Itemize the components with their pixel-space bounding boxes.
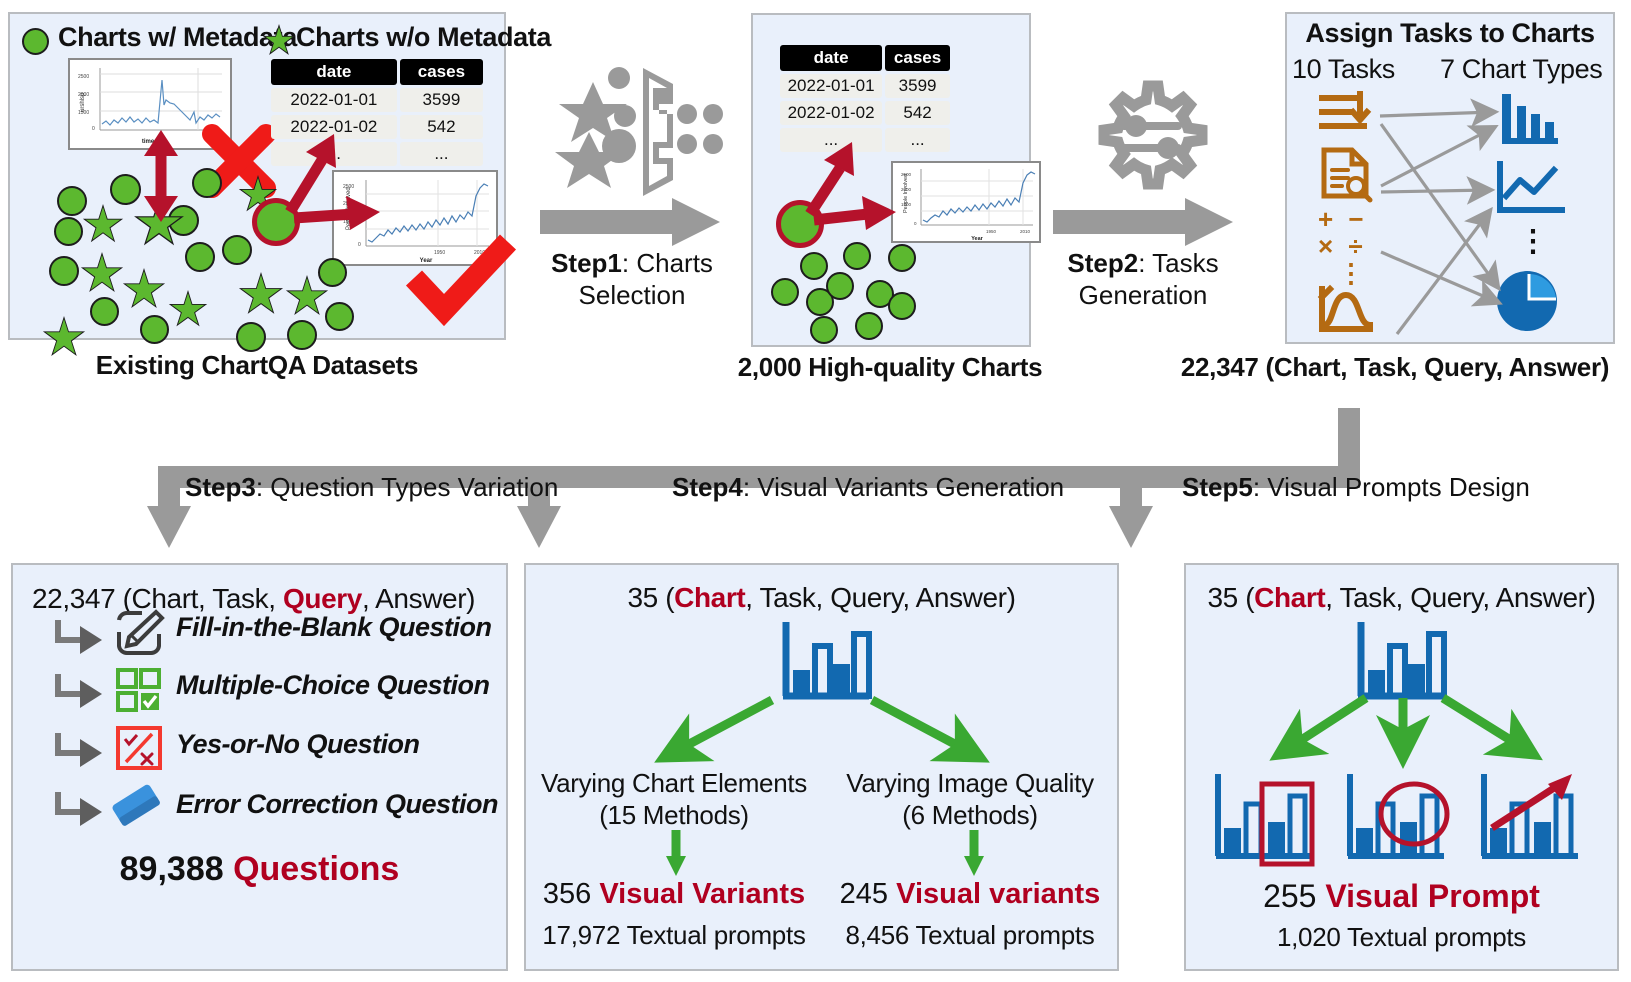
step4-branch2-title: Varying Image Quality	[820, 768, 1120, 799]
step4-branch1-down-arrow	[664, 830, 688, 876]
question-type-item-yes-or-no: Yes-or-No Question	[176, 729, 420, 760]
step4-rest: : Visual Variants Generation	[743, 472, 1064, 502]
chart-highlight: Chart	[674, 582, 745, 613]
step2-rest: : Tasks	[1138, 248, 1218, 278]
step1-arrow-right	[540, 198, 720, 246]
table-row: 2022-01-01 3599	[271, 88, 483, 112]
scatter-dot	[222, 235, 252, 265]
step5-count: 255 Visual Prompt	[1184, 878, 1619, 915]
step4-panel-header: 35 (Chart, Task, Query, Answer)	[524, 582, 1119, 614]
eraser-icon	[114, 786, 164, 830]
scatter-dot	[318, 258, 347, 287]
step4-branch2-prompts: 8,456 Textual prompts	[820, 920, 1120, 951]
scatter-dot	[800, 252, 828, 280]
question-type-item-multiple-choice: Multiple-Choice Question	[176, 670, 490, 701]
hook-arrow-icon	[52, 672, 104, 706]
step3-label: Step3: Question Types Variation	[185, 472, 558, 504]
box-highlight-chart	[1212, 770, 1318, 866]
legend-with-metadata-label: Charts w/ Metadata	[58, 22, 297, 52]
step3-total-questions: 89,388 Questions	[11, 850, 508, 889]
scatter-dot	[90, 297, 119, 326]
step4-branch1-methods: (15 Methods)	[524, 800, 824, 831]
reject-arrow-up-down	[140, 130, 182, 222]
step2-line2: Generation	[1048, 280, 1238, 312]
cell-date: 2022-01-01	[271, 88, 397, 112]
scatter-dot	[888, 292, 916, 320]
step4-branch2-down-arrow	[962, 830, 986, 876]
circle-highlight-chart	[1344, 770, 1450, 866]
svg-text:2500: 2500	[78, 74, 89, 80]
step1-bold: Step1	[551, 248, 622, 278]
scatter-dot	[810, 316, 838, 344]
question-type-item-error-correction: Error Correction Question	[176, 789, 498, 820]
step4-branch1-title: Varying Chart Elements	[524, 768, 824, 799]
gear-settings-icon	[1086, 76, 1210, 200]
step5-branch-arrows	[1200, 690, 1610, 776]
cell-date: 2022-01-01	[780, 74, 882, 98]
step5-label: Step5: Visual Prompts Design	[1182, 472, 1530, 504]
yes-no-icon	[116, 726, 162, 770]
pencil-square-icon	[116, 610, 162, 656]
query-highlight: Query	[283, 583, 362, 614]
scatter-dot	[57, 186, 87, 216]
scatter-dot	[287, 320, 317, 350]
cell-cases: 542	[885, 101, 950, 125]
scatter-dot	[888, 244, 916, 272]
scatter-dot	[236, 322, 266, 352]
scatter-dot	[185, 242, 215, 272]
svg-text:Year: Year	[971, 236, 983, 242]
filter-sieve-icon	[547, 62, 707, 202]
question-type-label: Error Correction Question	[176, 789, 498, 820]
accept-arrows	[270, 120, 400, 240]
cell-cases: ...	[400, 142, 483, 166]
step3-bold: Step3	[185, 472, 256, 502]
step4-branch2-count: 245 Visual variants	[820, 878, 1120, 911]
step2-bold: Step2	[1067, 248, 1138, 278]
question-type-item-fill-in-the-blank: Fill-in-the-Blank Question	[176, 612, 492, 643]
hook-arrow-icon	[52, 790, 104, 824]
legend-dot-icon	[22, 28, 49, 55]
step5-prompts: 1,020 Textual prompts	[1184, 922, 1619, 953]
step1-label: Step1: Charts Selection	[540, 248, 724, 311]
step5-bold: Step5	[1182, 472, 1253, 502]
question-type-label: Yes-or-No Question	[176, 729, 420, 760]
svg-text:0: 0	[92, 126, 95, 132]
legend-with-metadata: Charts w/ Metadata	[58, 22, 297, 53]
scatter-dot	[325, 302, 354, 331]
table-header-date: date	[780, 45, 882, 71]
step3-panel-header: 22,347 (Chart, Task, Query, Answer)	[32, 583, 475, 615]
scatter-dot	[49, 256, 79, 286]
legend-without-metadata: Charts w/o Metadata	[296, 22, 551, 53]
selected-chart-thumbnail: 2500 2000 1500 0 People Involved 1950 20…	[891, 161, 1041, 243]
arrow-highlight-chart	[1478, 770, 1590, 866]
table-row: 2022-01-01 3599	[780, 74, 950, 98]
step4-branch1-count: 356 Visual Variants	[524, 878, 824, 911]
svg-text:1950: 1950	[986, 229, 997, 234]
step3-rest: : Question Types Variation	[256, 472, 559, 502]
scatter-dot	[54, 217, 83, 246]
cell-cases: 542	[400, 115, 483, 139]
step4-label: Step4: Visual Variants Generation	[672, 472, 1064, 504]
step2-label: Step2: Tasks Generation	[1048, 248, 1238, 311]
step1-rest: : Charts	[622, 248, 713, 278]
selection-arrows	[792, 126, 912, 240]
cell-date: 2022-01-02	[780, 101, 882, 125]
accept-check-icon	[404, 238, 516, 320]
table-header-cases: cases	[400, 59, 483, 85]
step4-branch2-methods: (6 Methods)	[820, 800, 1120, 831]
cell-cases: 3599	[885, 74, 950, 98]
hook-arrow-icon	[52, 731, 104, 765]
panel1-caption: Existing ChartQA Datasets	[8, 350, 506, 381]
step4-branch-arrows	[600, 690, 1050, 780]
step4-bold: Step4	[672, 472, 743, 502]
hook-arrow-icon	[52, 618, 104, 652]
question-type-label: Fill-in-the-Blank Question	[176, 612, 492, 643]
step1-line2: Selection	[540, 280, 724, 312]
chart-highlight: Chart	[1254, 582, 1325, 613]
step5-panel-header: 35 (Chart, Task, Query, Answer)	[1184, 582, 1619, 614]
flow-connector-bus	[100, 380, 1420, 560]
step5-rest: : Visual Prompts Design	[1253, 472, 1530, 502]
cell-cases: 3599	[400, 88, 483, 112]
table-header-date: date	[271, 59, 397, 85]
step4-branch1-prompts: 17,972 Textual prompts	[524, 920, 824, 951]
svg-text:2010: 2010	[1020, 229, 1031, 234]
legend-without-metadata-label: Charts w/o Metadata	[296, 22, 551, 52]
scatter-dot	[826, 272, 854, 300]
table-row: 2022-01-02 542	[780, 101, 950, 125]
scatter-dot	[110, 174, 141, 205]
table-header-cases: cases	[885, 45, 950, 71]
svg-text:urshlsp: urshlsp	[80, 92, 86, 112]
scatter-dot	[192, 168, 222, 198]
panel2-caption: 2,000 High-quality Charts	[730, 352, 1050, 383]
panel3-caption: 22,347 (Chart, Task, Query, Answer)	[1160, 352, 1630, 383]
svg-text:0: 0	[914, 221, 917, 226]
svg-text:0: 0	[358, 242, 361, 248]
step2-arrow-right	[1053, 198, 1233, 246]
scatter-dot	[843, 242, 871, 270]
multiple-choice-icon	[116, 668, 162, 712]
task-chart-mapping-arrows	[1285, 12, 1615, 344]
question-type-label: Multiple-Choice Question	[176, 670, 490, 701]
scatter-dot	[771, 278, 799, 306]
scatter-dot	[855, 312, 883, 340]
scatter-dot	[140, 315, 169, 344]
